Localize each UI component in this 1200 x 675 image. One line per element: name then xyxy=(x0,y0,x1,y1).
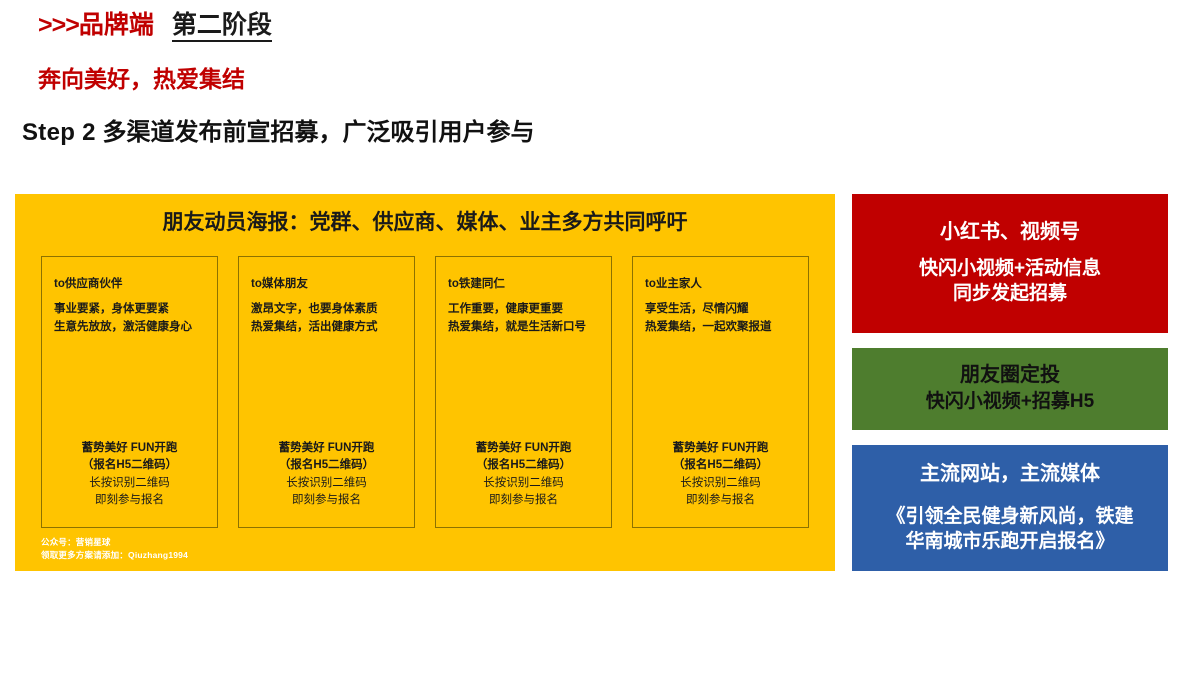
channel-column: 小红书、视频号 快闪小视频+活动信息 同步发起招募 朋友圈定投 快闪小视频+招募… xyxy=(852,194,1168,571)
poster-card-head: to业主家人 xyxy=(645,275,702,291)
channel-subtitle-line: 《引领全民健身新风尚，铁建 xyxy=(886,505,1133,530)
poster-card-foot-line: 长按识别二维码 xyxy=(633,475,808,492)
poster-title: 朋友动员海报：党群、供应商、媒体、业主多方共同呼吁 xyxy=(15,210,835,235)
poster-card-foot-line: 长按识别二维码 xyxy=(436,475,611,492)
poster-card-foot-line: 蓄势美好 FUN开跑 xyxy=(239,440,414,457)
poster-card[interactable]: to供应商伙伴 事业要紧，身体更要紧 生意先放放，激活健康身心 蓄势美好 FUN… xyxy=(41,256,218,528)
poster-card[interactable]: to业主家人 享受生活，尽情闪耀 热爱集结，一起欢聚报道 蓄势美好 FUN开跑 … xyxy=(632,256,809,528)
poster-card-body: 激昂文字，也要身体素质 热爱集结，活出健康方式 xyxy=(251,301,406,337)
channel-subtitle-line: 同步发起招募 xyxy=(919,282,1101,307)
step-number-label: Step 2 xyxy=(22,119,96,146)
poster-card-foot-line: 长按识别二维码 xyxy=(42,475,217,492)
channel-card-mainstream-media[interactable]: 主流网站，主流媒体 《引领全民健身新风尚，铁建 华南城市乐跑开启报名》 xyxy=(852,445,1168,571)
poster-card-foot: 蓄势美好 FUN开跑 （报名H5二维码） 长按识别二维码 即刻参与报名 xyxy=(436,440,611,509)
poster-card-foot: 蓄势美好 FUN开跑 （报名H5二维码） 长按识别二维码 即刻参与报名 xyxy=(42,440,217,509)
poster-card-head: to铁建同仁 xyxy=(448,275,505,291)
poster-card-body-line: 热爱集结，活出健康方式 xyxy=(251,319,406,337)
poster-card-foot-line: 蓄势美好 FUN开跑 xyxy=(436,440,611,457)
channel-subtitle: 快闪小视频+活动信息 同步发起招募 xyxy=(919,257,1101,306)
poster-card-foot-line: 即刻参与报名 xyxy=(633,492,808,509)
poster-card-foot-line: （报名H5二维码） xyxy=(436,457,611,474)
poster-card-body: 事业要紧，身体更要紧 生意先放放，激活健康身心 xyxy=(54,301,209,337)
slogan-text: 奔向美好，热爱集结 xyxy=(38,68,245,91)
poster-card-body-line: 热爱集结，就是生活新口号 xyxy=(448,319,603,337)
poster-card-foot-line: 即刻参与报名 xyxy=(42,492,217,509)
channel-subtitle: 快闪小视频+招募H5 xyxy=(926,390,1094,415)
channel-title: 小红书、视频号 xyxy=(940,220,1080,245)
brand-arrows-icon: >>> xyxy=(38,11,79,39)
poster-card-body-line: 激昂文字，也要身体素质 xyxy=(251,301,406,319)
stage-label: 第二阶段 xyxy=(172,11,272,42)
watermark-account: 公众号：营销星球 xyxy=(41,536,188,548)
brand-label: 品牌端 xyxy=(79,11,154,39)
poster-card-foot: 蓄势美好 FUN开跑 （报名H5二维码） 长按识别二维码 即刻参与报名 xyxy=(239,440,414,509)
poster-card-foot-line: 蓄势美好 FUN开跑 xyxy=(42,440,217,457)
poster-card-foot-line: 蓄势美好 FUN开跑 xyxy=(633,440,808,457)
poster-card-body-line: 生意先放放，激活健康身心 xyxy=(54,319,209,337)
poster-cards-row: to供应商伙伴 事业要紧，身体更要紧 生意先放放，激活健康身心 蓄势美好 FUN… xyxy=(41,256,809,528)
poster-card-foot-line: 即刻参与报名 xyxy=(436,492,611,509)
poster-card-foot-line: （报名H5二维码） xyxy=(42,457,217,474)
poster-card[interactable]: to媒体朋友 激昂文字，也要身体素质 热爱集结，活出健康方式 蓄势美好 FUN开… xyxy=(238,256,415,528)
watermark-contact: 领取更多方案请添加：Qiuzhang1994 xyxy=(41,549,188,561)
step-heading: Step 2 多渠道发布前宣招募，广泛吸引用户参与 xyxy=(22,121,535,145)
poster-card-body-line: 热爱集结，一起欢聚报道 xyxy=(645,319,800,337)
poster-card-foot: 蓄势美好 FUN开跑 （报名H5二维码） 长按识别二维码 即刻参与报名 xyxy=(633,440,808,509)
channel-subtitle-line: 快闪小视频+活动信息 xyxy=(919,257,1101,282)
channel-subtitle: 《引领全民健身新风尚，铁建 华南城市乐跑开启报名》 xyxy=(886,505,1133,554)
poster-card-body-line: 工作重要，健康更重要 xyxy=(448,301,603,319)
watermark: 公众号：营销星球 领取更多方案请添加：Qiuzhang1994 xyxy=(41,536,188,561)
channel-card-xiaohongshu[interactable]: 小红书、视频号 快闪小视频+活动信息 同步发起招募 xyxy=(852,194,1168,333)
poster-card-head: to供应商伙伴 xyxy=(54,275,122,291)
channel-title: 主流网站，主流媒体 xyxy=(920,462,1100,487)
poster-card[interactable]: to铁建同仁 工作重要，健康更重要 热爱集结，就是生活新口号 蓄势美好 FUN开… xyxy=(435,256,612,528)
channel-subtitle-line: 华南城市乐跑开启报名》 xyxy=(886,530,1133,555)
poster-card-body: 工作重要，健康更重要 热爱集结，就是生活新口号 xyxy=(448,301,603,337)
channel-subtitle-line: 快闪小视频+招募H5 xyxy=(926,390,1094,415)
poster-card-body: 享受生活，尽情闪耀 热爱集结，一起欢聚报道 xyxy=(645,301,800,337)
poster-card-foot-line: 长按识别二维码 xyxy=(239,475,414,492)
brand-heading: >>>品牌端第二阶段 xyxy=(38,13,272,38)
poster-panel: 朋友动员海报：党群、供应商、媒体、业主多方共同呼吁 to供应商伙伴 事业要紧，身… xyxy=(15,194,835,571)
poster-card-foot-line: 即刻参与报名 xyxy=(239,492,414,509)
poster-card-body-line: 享受生活，尽情闪耀 xyxy=(645,301,800,319)
step-description: 多渠道发布前宣招募，广泛吸引用户参与 xyxy=(103,119,535,146)
channel-title: 朋友圈定投 xyxy=(960,363,1060,388)
poster-card-foot-line: （报名H5二维码） xyxy=(633,457,808,474)
poster-card-head: to媒体朋友 xyxy=(251,275,308,291)
poster-card-foot-line: （报名H5二维码） xyxy=(239,457,414,474)
poster-card-body-line: 事业要紧，身体更要紧 xyxy=(54,301,209,319)
channel-card-moments[interactable]: 朋友圈定投 快闪小视频+招募H5 xyxy=(852,348,1168,430)
